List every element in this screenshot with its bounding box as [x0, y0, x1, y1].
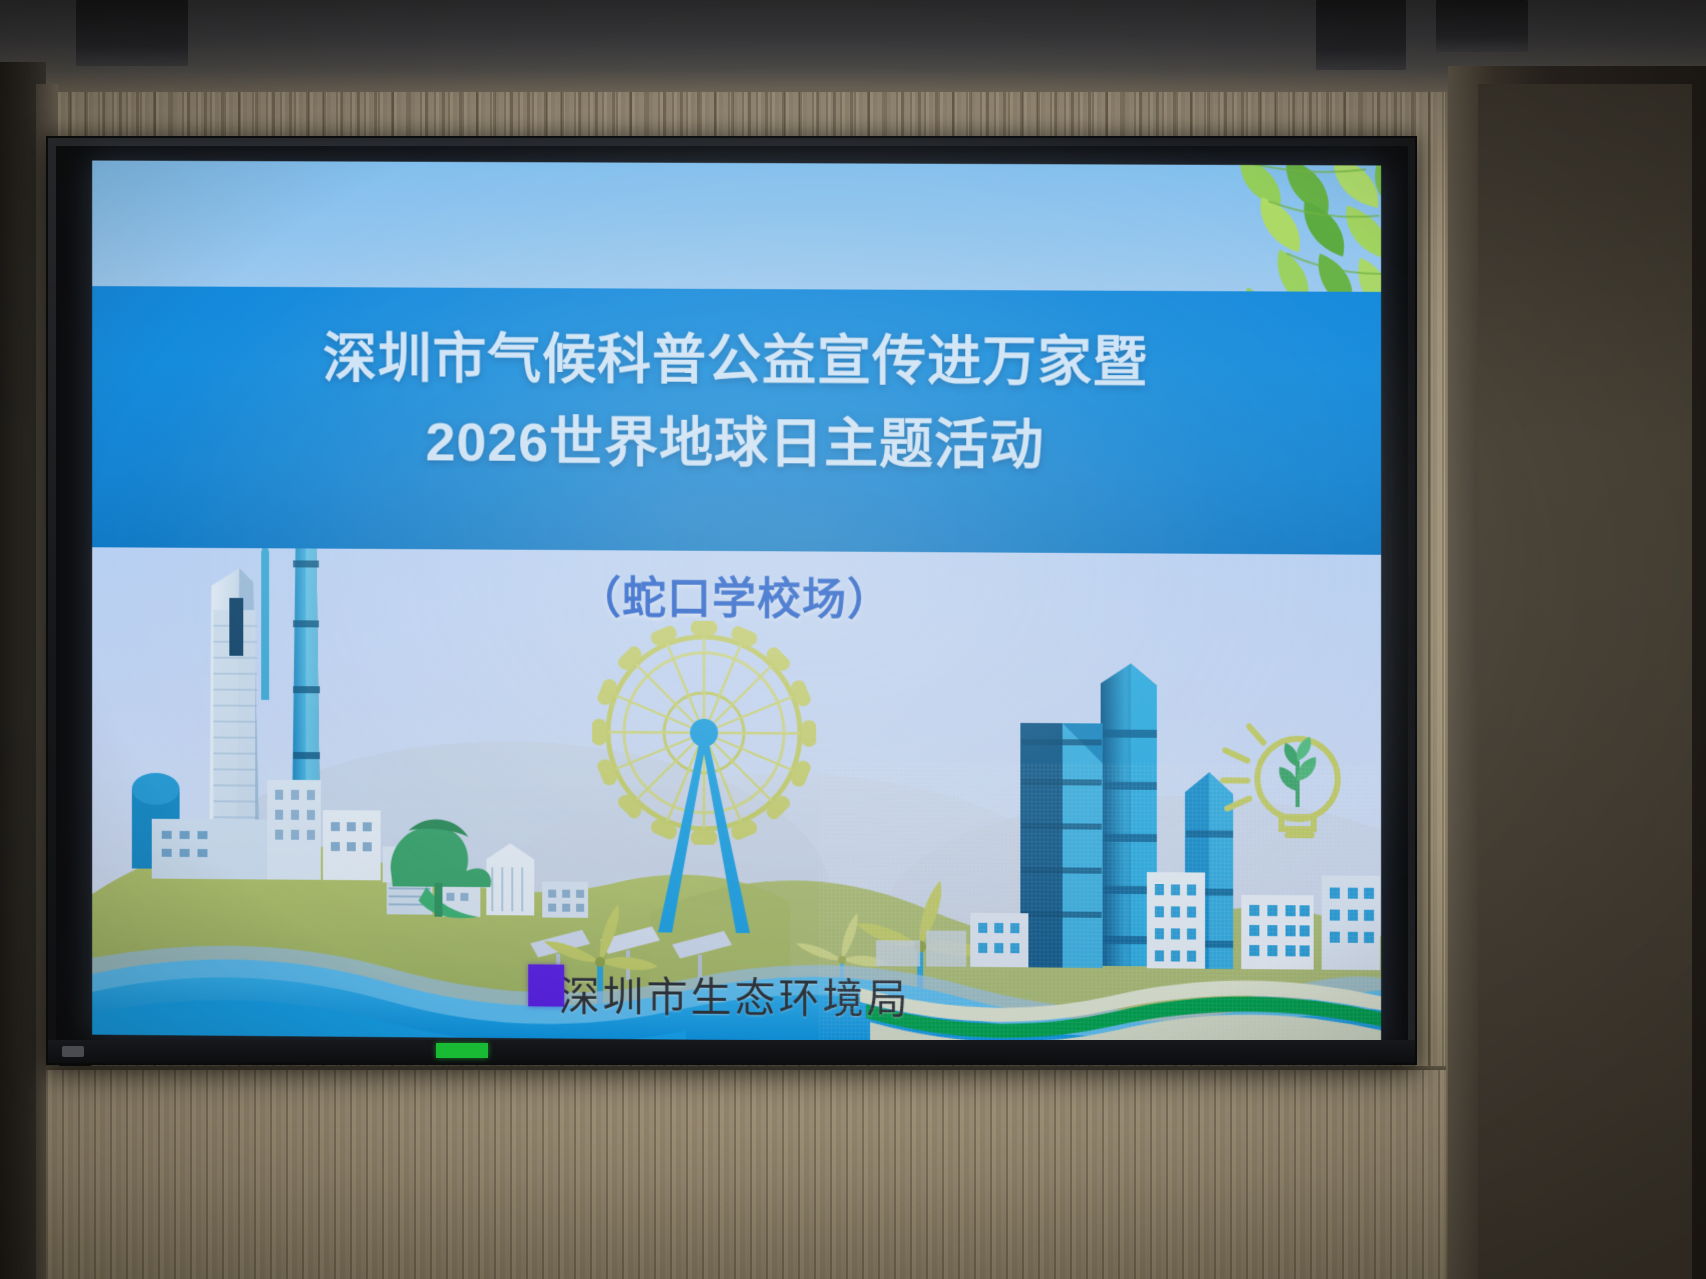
purple-marker-overlay [528, 964, 564, 1006]
slide-title-band: 深圳市气候科普公益宣传进万家暨 2026世界地球日主题活动 [92, 286, 1381, 555]
slide-title-line1: 深圳市气候科普公益宣传进万家暨 [92, 286, 1381, 393]
slide-canvas: 深圳市气候科普公益宣传进万家暨 2026世界地球日主题活动 （蛇口学校场） 深圳… [92, 161, 1381, 1046]
ceiling-vent-far-right [1436, 0, 1528, 52]
conference-room: 深圳市气候科普公益宣传进万家暨 2026世界地球日主题活动 （蛇口学校场） 深圳… [0, 0, 1706, 1279]
slide-title-line2: 2026世界地球日主题活动 [92, 386, 1381, 475]
led-panel-grid-texture [819, 761, 1381, 1046]
ceiling-speaker-left [76, 0, 188, 66]
wall-wainscot-below-screen [46, 1070, 1446, 1279]
display-power-button[interactable] [62, 1046, 84, 1057]
right-door-panel [1478, 84, 1692, 1279]
projected-slide[interactable]: 深圳市气候科普公益宣传进万家暨 2026世界地球日主题活动 （蛇口学校场） 深圳… [92, 161, 1381, 1046]
green-status-indicator [436, 1043, 488, 1058]
ceiling-speaker-right [1316, 0, 1406, 70]
display-bottom-bezel [48, 1040, 1415, 1063]
slide-subtitle: （蛇口学校场） [92, 559, 1381, 631]
